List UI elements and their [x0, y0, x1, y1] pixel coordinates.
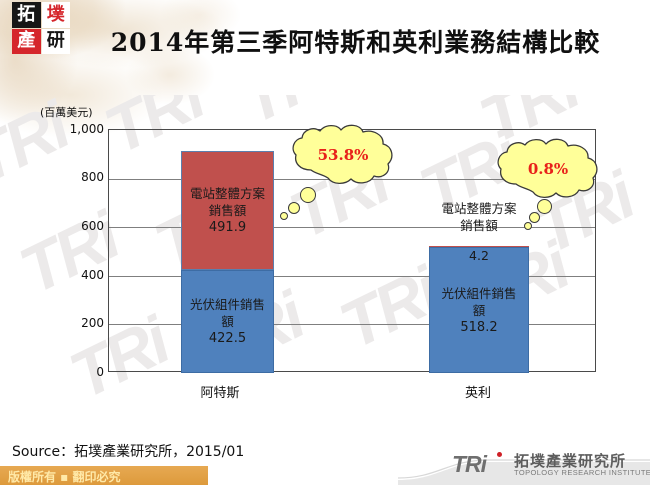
callout-tail-bubble-large — [537, 199, 552, 214]
segment-name-line1: 電站整體方案 — [190, 185, 265, 202]
x-axis-label-atesi: 阿特斯 — [155, 382, 285, 401]
y-tick-1000: 1,000 — [38, 122, 104, 136]
callout-atesi-share[interactable]: 53.8% — [288, 124, 398, 186]
tri-logo: TRi 拓墣產業研究所 TOPOLOGY RESEARCH INSTITUTE — [452, 450, 650, 482]
callout-tail-bubble-medium — [288, 202, 300, 214]
bar-segment-pv-modules[interactable]: 光伏組件銷售 額 422.5 — [181, 270, 274, 373]
segment-value: 518.2 — [460, 319, 497, 336]
y-axis-tick-labels: 1,000 800 600 400 200 0 — [38, 0, 104, 420]
y-tick-200: 200 — [38, 316, 104, 330]
callout-tail-bubble-small — [280, 212, 288, 220]
bar-yingli[interactable]: 光伏組件銷售 額 518.2 — [429, 246, 529, 373]
bar-segment-pv-modules[interactable]: 光伏組件銷售 額 518.2 — [429, 247, 529, 373]
y-tick-0: 0 — [38, 365, 104, 379]
tri-logo-english-name: TOPOLOGY RESEARCH INSTITUTE — [514, 468, 650, 477]
segment-name-line2: 額 — [473, 302, 486, 319]
segment-value: 4.2 — [469, 248, 489, 263]
tri-logo-dot-icon — [497, 452, 502, 457]
callout-tail-bubble-small — [524, 222, 532, 230]
y-tick-600: 600 — [38, 219, 104, 233]
y-tick-800: 800 — [38, 170, 104, 184]
bar-yingli-power-plant-value: 4.2 — [429, 247, 529, 264]
callout-yingli-share[interactable]: 0.8% — [493, 138, 603, 200]
x-axis-label-yingli: 英利 — [413, 382, 543, 401]
segment-name-line2: 額 — [221, 313, 234, 330]
callout-tail-bubble-large — [300, 187, 316, 203]
bar-segment-power-plant[interactable]: 電站整體方案 銷售額 491.9 — [181, 151, 274, 271]
segment-name-line1: 光伏組件銷售 — [190, 296, 265, 313]
segment-value: 422.5 — [209, 330, 246, 347]
cloud-shape-icon — [493, 138, 603, 200]
source-note: Source：拓墣產業研究所，2015/01 — [12, 441, 244, 461]
bar-atesi[interactable]: 電站整體方案 銷售額 491.9 光伏組件銷售 額 422.5 — [181, 151, 274, 373]
cloud-shape-icon — [288, 124, 398, 186]
tri-logo-mark: TRi — [452, 451, 486, 478]
stacked-bar-chart: (百萬美元) 1,000 800 600 400 200 0 電站整體方案 銷售… — [0, 0, 650, 420]
copyright-text: 版權所有 ▪ 翻印必究 — [8, 468, 121, 485]
segment-name-line2: 銷售額 — [209, 202, 247, 219]
copyright-bar: 版權所有 ▪ 翻印必究 — [0, 466, 208, 485]
segment-name-line1: 光伏組件銷售 — [441, 285, 516, 302]
segment-value: 491.9 — [209, 219, 246, 236]
callout-tail-bubble-medium — [529, 212, 540, 223]
y-tick-400: 400 — [38, 268, 104, 282]
